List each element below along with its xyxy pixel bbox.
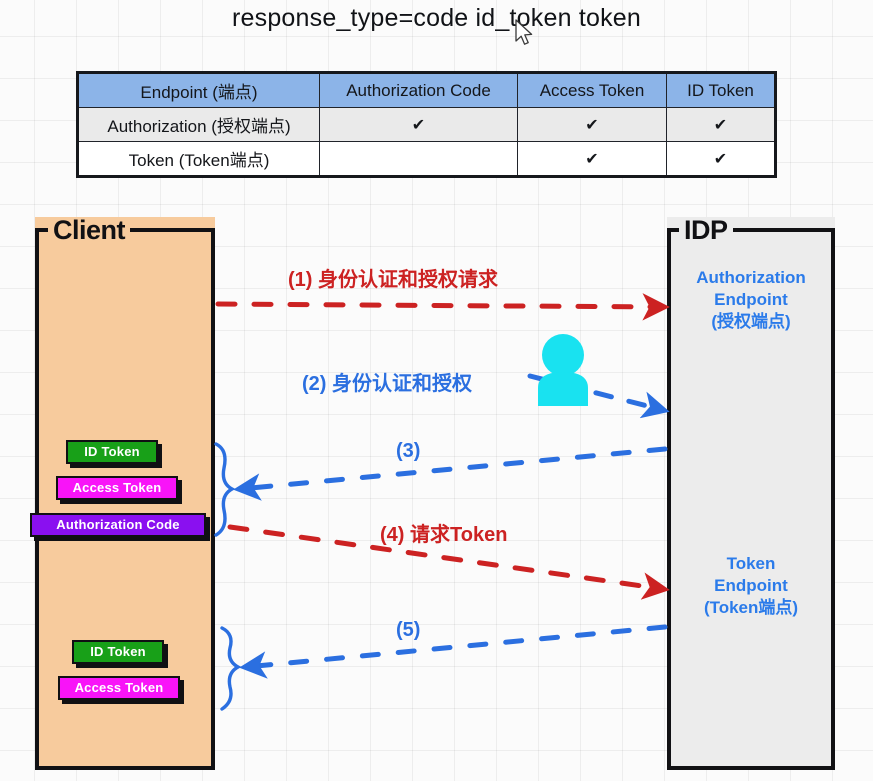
row-label-authorization: Authorization (授权端点) [78, 108, 320, 142]
table-header-authorization-code: Authorization Code [320, 73, 518, 108]
table-header-endpoint: Endpoint (端点) [78, 73, 320, 108]
brace-lower [222, 628, 238, 709]
idp-box-legend: IDP [679, 217, 733, 244]
brace-upper [216, 444, 232, 535]
diagram-canvas: response_type=code id_token token Endpoi… [0, 0, 873, 781]
token-endpoint-line3: (Token端点) [667, 597, 835, 619]
page-title: response_type=code id_token token [0, 4, 873, 33]
user-icon [538, 334, 588, 406]
flow-label-2: (2) 身份认证和授权 [302, 367, 472, 396]
flow-label-4: (4) 请求Token [380, 518, 507, 547]
table-row: Token (Token端点) ✔ ✔ [78, 142, 776, 177]
cell-access-token: ✔ [518, 108, 667, 142]
badge-access-token: Access Token [56, 476, 178, 500]
cell-id-token: ✔ [667, 142, 776, 177]
client-box-legend: Client [48, 217, 130, 244]
badge-id-token: ID Token [72, 640, 164, 664]
cell-authorization-code: ✔ [320, 108, 518, 142]
table-header-access-token: Access Token [518, 73, 667, 108]
flow-arrow-1 [218, 304, 663, 307]
authorization-endpoint-line1: Authorization [667, 267, 835, 289]
flow-label-3: (3) [396, 440, 420, 463]
badge-authorization-code: Authorization Code [30, 513, 206, 537]
flow-arrow-2 [530, 376, 663, 410]
table-header-id-token: ID Token [667, 73, 776, 108]
table-header-row: Endpoint (端点) Authorization Code Access … [78, 73, 776, 108]
row-label-token: Token (Token端点) [78, 142, 320, 177]
table-row: Authorization (授权端点) ✔ ✔ ✔ [78, 108, 776, 142]
authorization-endpoint-line2: Endpoint [667, 289, 835, 311]
token-endpoint-line1: Token [667, 553, 835, 575]
flow-arrow-3 [240, 449, 665, 489]
authorization-endpoint-label: Authorization Endpoint (授权端点) [667, 267, 835, 332]
token-endpoint-line2: Endpoint [667, 575, 835, 597]
badge-access-token: Access Token [58, 676, 180, 700]
flow-arrow-5 [246, 627, 665, 667]
cell-authorization-code [320, 142, 518, 177]
cell-access-token: ✔ [518, 142, 667, 177]
badge-id-token: ID Token [66, 440, 158, 464]
flow-label-1: (1) 身份认证和授权请求 [288, 263, 498, 292]
flow-label-5: (5) [396, 619, 420, 642]
cell-id-token: ✔ [667, 108, 776, 142]
authorization-endpoint-line3: (授权端点) [667, 311, 835, 333]
token-endpoint-label: Token Endpoint (Token端点) [667, 553, 835, 618]
endpoint-capability-table: Endpoint (端点) Authorization Code Access … [76, 71, 777, 178]
